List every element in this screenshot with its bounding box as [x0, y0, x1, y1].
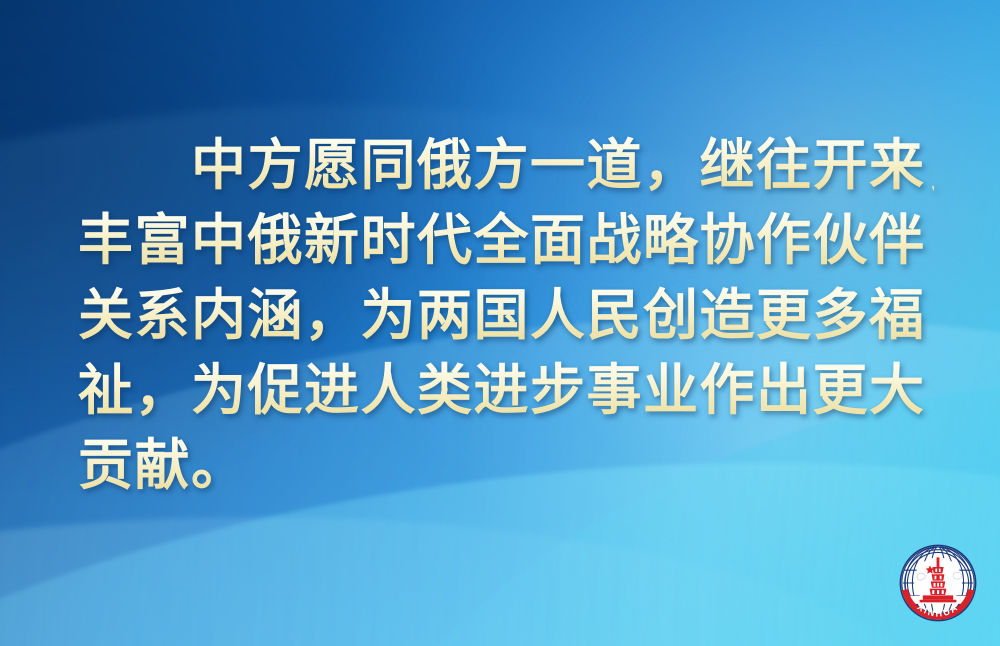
quote-line: 中方愿同俄方一道，继往开来，	[78, 128, 934, 203]
quote-line: 祉，为促进人类进步事业作出更大	[78, 353, 934, 428]
xinhua-logo: XINHUA	[898, 543, 978, 623]
quote-line: 贡献。	[78, 428, 934, 503]
quote-card: 中方愿同俄方一道，继往开来， 丰富中俄新时代全面战略协作伙伴 关系内涵，为两国人…	[0, 0, 1000, 646]
quote-line: 丰富中俄新时代全面战略协作伙伴	[78, 203, 934, 278]
quote-text-block: 中方愿同俄方一道，继往开来， 丰富中俄新时代全面战略协作伙伴 关系内涵，为两国人…	[78, 128, 934, 503]
quote-line: 关系内涵，为两国人民创造更多福	[78, 278, 934, 353]
